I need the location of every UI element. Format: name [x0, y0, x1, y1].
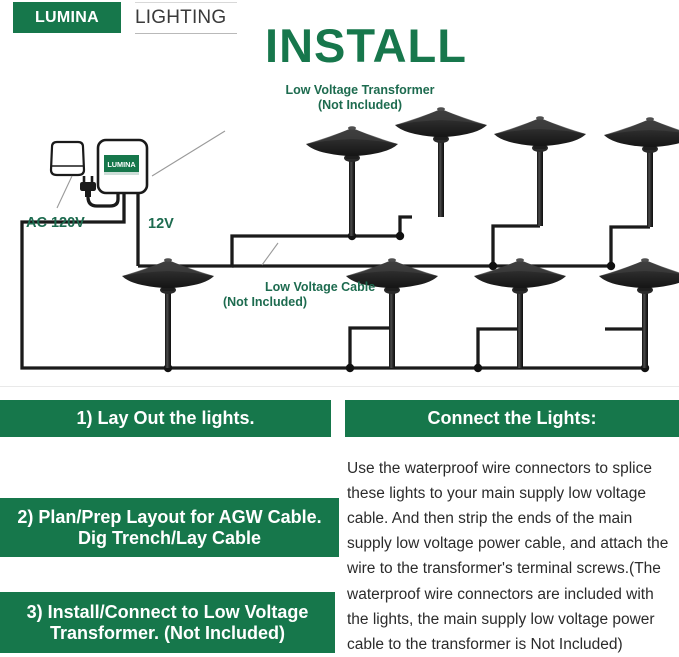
- transformer-label-line1: Low Voltage Transformer: [285, 83, 434, 97]
- ac-voltage-label: AC 120V: [26, 215, 85, 231]
- path-light-fixture: [474, 258, 566, 368]
- wall-outlet: [51, 142, 84, 175]
- path-light-fixture: [346, 258, 438, 368]
- section-divider: [0, 386, 679, 387]
- path-light-fixture: [494, 116, 586, 226]
- path-light-fixture: [306, 126, 398, 236]
- low-voltage-label: 12V: [148, 216, 174, 232]
- installation-diagram: LUMINA Low Voltage Transformer (Not Incl…: [0, 0, 679, 390]
- cable-label-line1: Low Voltage Cable: [265, 280, 375, 294]
- path-light-fixture: [395, 107, 487, 217]
- step-banner-1: 1) Lay Out the lights.: [0, 400, 331, 437]
- step-banner-3: 3) Install/Connect to Low Voltage Transf…: [0, 592, 335, 653]
- connect-body-text: Use the waterproof wire connectors to sp…: [347, 456, 669, 657]
- transformer-label-line2: (Not Included): [318, 98, 402, 112]
- transformer-badge-text: LUMINA: [107, 160, 136, 169]
- cable-label-line2: (Not Included): [223, 295, 307, 309]
- connect-heading: Connect the Lights:: [345, 400, 679, 437]
- transformer-unit: LUMINA: [98, 140, 147, 193]
- path-light-fixture: [599, 258, 679, 368]
- step-banner-2: 2) Plan/Prep Layout for AGW Cable. Dig T…: [0, 498, 339, 557]
- path-light-fixture: [604, 117, 679, 227]
- path-light-fixture: [122, 258, 214, 368]
